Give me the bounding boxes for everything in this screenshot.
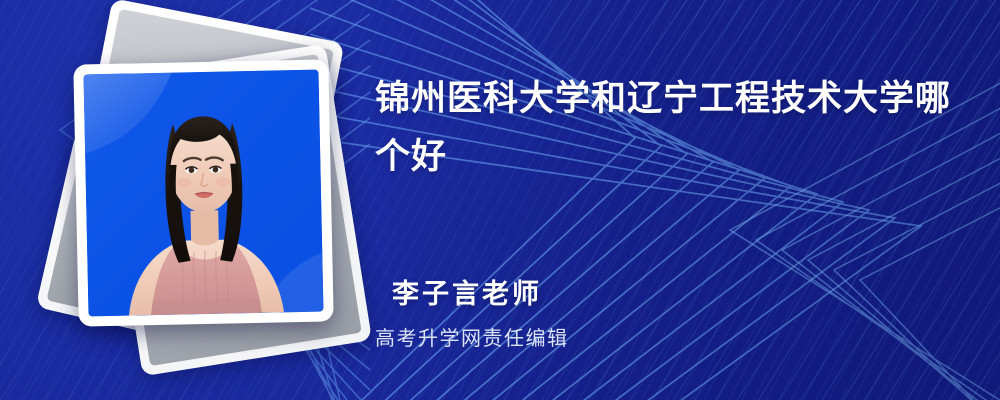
- article-banner: 锦州医科大学和辽宁工程技术大学哪个好 李子言老师 高考升学网责任编辑: [0, 0, 1000, 400]
- author-role: 高考升学网责任编辑: [375, 322, 569, 351]
- author-name: 李子言老师: [392, 272, 542, 311]
- photo-card-main: [73, 59, 333, 326]
- photo-card-stack: [40, 26, 360, 356]
- author-portrait-photo: [83, 70, 323, 317]
- page-title: 锦州医科大学和辽宁工程技术大学哪个好: [375, 70, 975, 186]
